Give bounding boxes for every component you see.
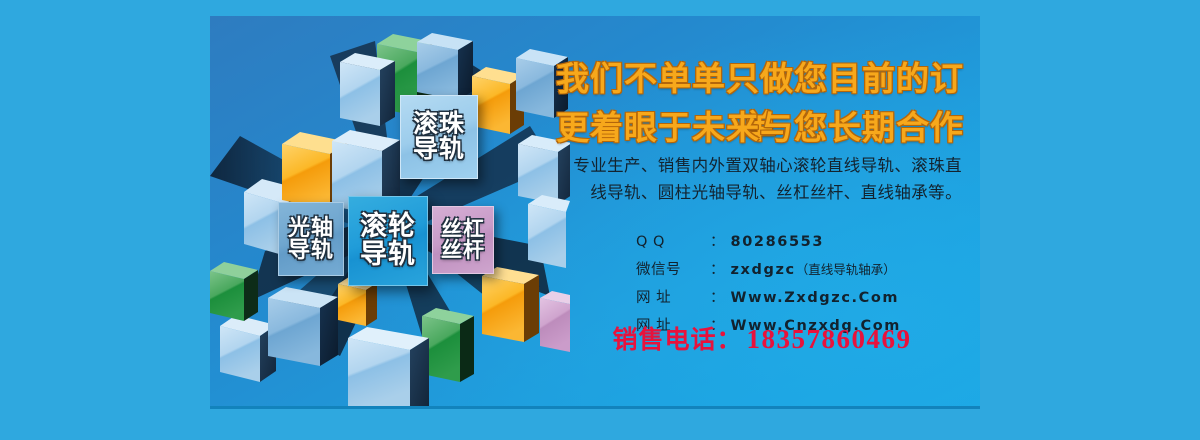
cube-label-line2: 导轨 <box>288 239 334 261</box>
contact-colon: ： <box>710 286 725 307</box>
contact-row-qq: Q Q ： 80286553 <box>636 230 980 251</box>
contact-value-wechat[interactable]: zxdgzc <box>731 262 796 278</box>
cube-label-line2: 丝杆 <box>441 240 485 261</box>
cube-label-ball-guide: 滚珠 导轨 <box>400 95 478 179</box>
cube-label-line2: 导轨 <box>360 241 416 269</box>
headline-line-2: 更着眼于未来与您长期合作 <box>540 101 980 149</box>
company-description: 专业生产、销售内外置双轴心滚轮直线导轨、滚珠直线导轨、圆柱光轴导轨、丝杠丝杆、直… <box>558 152 962 206</box>
cube-label-optical-shaft-guide: 光轴 导轨 <box>278 202 344 276</box>
cube-label-lead-screw: 丝杠 丝杆 <box>432 206 494 274</box>
sales-phone-number[interactable]: 18357860469 <box>747 324 912 355</box>
contact-value-website-1[interactable]: Www.Zxdgzc.Com <box>731 290 900 306</box>
cube-label-line2: 导轨 <box>413 137 465 163</box>
contact-label: Q Q <box>636 234 710 250</box>
banner-content: 我们不单单只做您目前的订单 更着眼于未来与您长期合作 专业生产、销售内外置双轴心… <box>540 16 980 406</box>
contact-row-wechat: 微信号 ： zxdgzc （直线导轨轴承） <box>636 258 980 279</box>
cube-label-line1: 光轴 <box>288 217 334 239</box>
cube-label-line1: 丝杠 <box>441 219 485 240</box>
contact-note-wechat: （直线导轨轴承） <box>796 259 896 278</box>
contact-colon: ： <box>710 230 725 251</box>
promotional-banner: 滚珠 导轨 光轴 导轨 滚轮 导轨 丝杠 丝杆 我们不单单只做您目前的订单 更着… <box>210 16 980 409</box>
contact-value-qq[interactable]: 80286553 <box>731 234 825 250</box>
page-root: 滚珠 导轨 光轴 导轨 滚轮 导轨 丝杠 丝杆 我们不单单只做您目前的订单 更着… <box>0 0 1200 440</box>
cube-label-roller-guide: 滚轮 导轨 <box>348 196 428 286</box>
contact-label: 微信号 <box>636 258 710 279</box>
cube-label-line1: 滚珠 <box>413 112 465 138</box>
sales-phone-row: 销售电话： 18357860469 <box>552 320 972 356</box>
sales-phone-label: 销售电话： <box>612 320 742 356</box>
cube-label-line1: 滚轮 <box>360 213 416 241</box>
contact-label: 网 址 <box>636 286 710 307</box>
contact-colon: ： <box>710 258 725 279</box>
contact-row-website-1: 网 址 ： Www.Zxdgzc.Com <box>636 286 980 307</box>
